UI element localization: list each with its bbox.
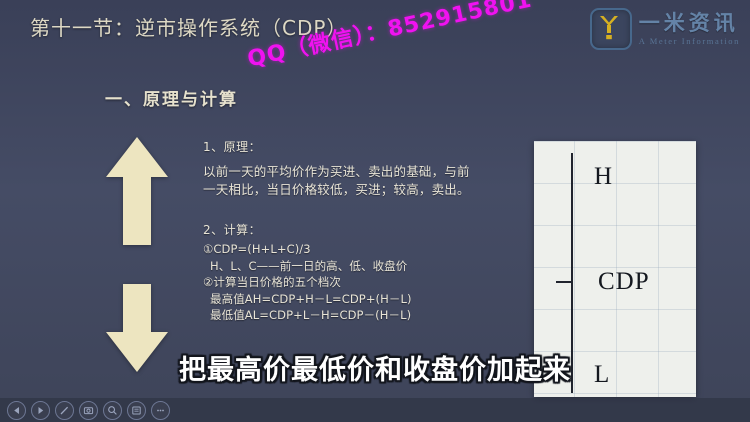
diagram-cdp-tick: [556, 281, 572, 283]
brand-logo: 一米资讯 A Meter Information: [590, 8, 740, 50]
video-subtitle: 把最高价最低价和收盘价加起来: [0, 348, 750, 387]
logo-name-en: A Meter Information: [639, 37, 740, 46]
slide-screen: 第十一节：逆市操作系统（CDP） 一米资讯 A Meter Informatio…: [0, 0, 750, 422]
pen-button[interactable]: [55, 401, 74, 420]
principle-title: 1、原理：: [203, 138, 503, 155]
playlist-button[interactable]: [127, 401, 146, 420]
principle-line-1: 以前一天的平均价作为买进、卖出的基础，与前: [203, 163, 503, 181]
lesson-body: 1、原理： 以前一天的平均价作为买进、卖出的基础，与前 一天相比，当日价格较低，…: [203, 138, 503, 324]
calculation-line-1: ①CDP=(H+L+C)/3: [203, 241, 503, 258]
arrow-up-icon: [104, 135, 170, 252]
player-toolbar: [0, 398, 750, 422]
calculation-line-3: ②计算当日价格的五个档次: [203, 274, 503, 291]
section-heading: 一、原理与计算: [105, 85, 238, 110]
zoom-button[interactable]: [103, 401, 122, 420]
screenshot-button[interactable]: [79, 401, 98, 420]
paragraph-spacer: [203, 199, 503, 221]
principle-line-2: 一天相比，当日价格较低，买进；较高，卖出。: [203, 181, 503, 199]
logo-name-cn: 一米资讯: [639, 13, 740, 34]
calculation-title: 2、计算：: [203, 221, 503, 238]
y-monogram-icon: [590, 8, 632, 50]
calculation-line-4: 最高值AH=CDP+H－L=CDP+(H－L): [203, 291, 503, 308]
diagram-label-cdp: CDP: [598, 268, 650, 296]
calculation-line-5: 最低值AL=CDP+L－H=CDP－(H－L): [203, 307, 503, 324]
diagram-label-high: H: [594, 163, 613, 191]
play-button[interactable]: [31, 401, 50, 420]
previous-button[interactable]: [7, 401, 26, 420]
calculation-line-2: H、L、C——前一日的高、低、收盘价: [203, 258, 503, 275]
more-button[interactable]: [151, 401, 170, 420]
contact-overlay-note: QQ（微信）：852915801: [244, 0, 534, 73]
